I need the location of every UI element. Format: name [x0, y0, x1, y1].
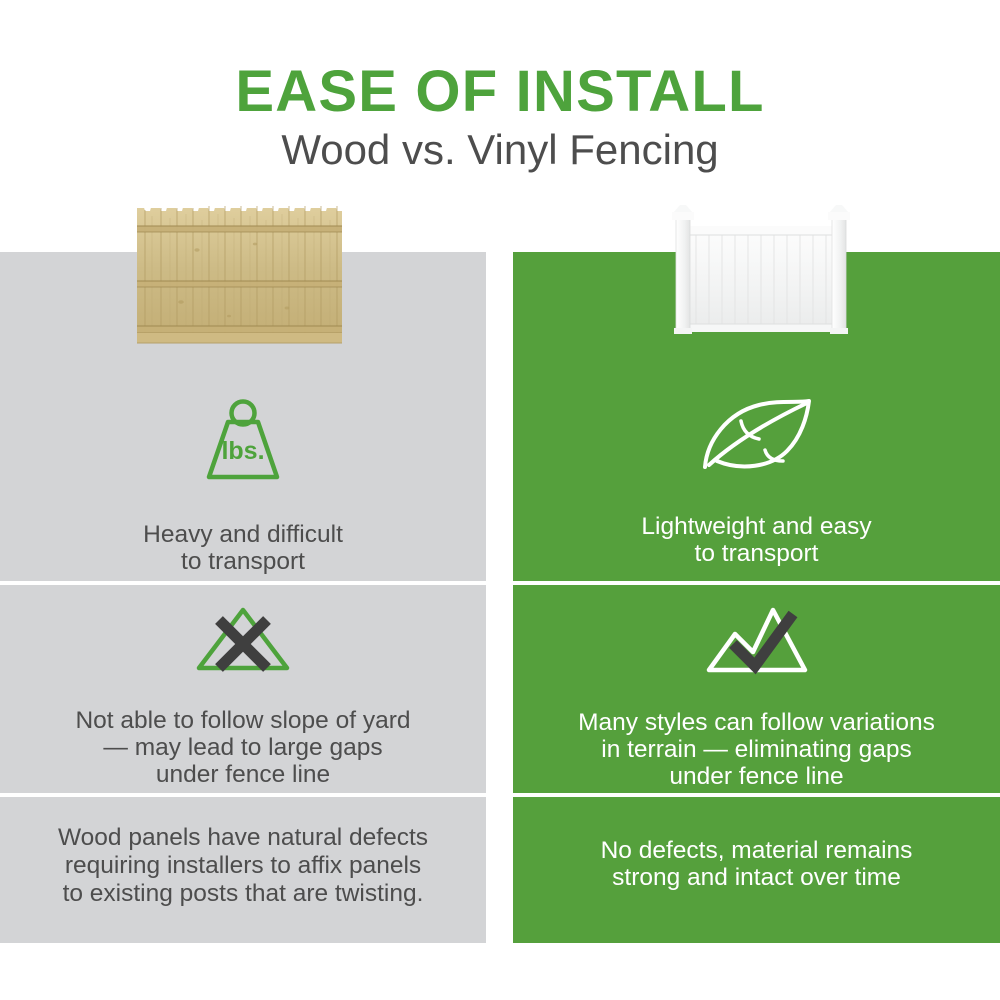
column-vinyl: Lightweight and easy to transport Many s…: [513, 252, 1000, 943]
vinyl-row-lightweight-text: Lightweight and easy to transport: [513, 513, 1000, 567]
wood-fence-panel-image: [137, 198, 342, 346]
wood-row-defects-text: Wood panels have natural defects requiri…: [0, 824, 486, 908]
vinyl-row-nodefects-text: No defects, material remains strong and …: [513, 837, 1000, 891]
vinyl-row-terrain: Many styles can follow variations in ter…: [513, 604, 1000, 790]
vinyl-row-lightweight: Lightweight and easy to transport: [513, 397, 1000, 567]
vinyl-fence-panel-image: [666, 200, 856, 345]
divider: [0, 793, 486, 797]
divider: [0, 581, 486, 585]
vinyl-row-nodefects: No defects, material remains strong and …: [513, 837, 1000, 891]
triangle-with-x-icon: [0, 604, 486, 679]
wood-row-slope: Not able to follow slope of yard — may l…: [0, 604, 486, 788]
header: EASE OF INSTALL Wood vs. Vinyl Fencing: [0, 0, 1000, 200]
column-wood: lbs. Heavy and difficult to transport No…: [0, 252, 486, 943]
svg-text:lbs.: lbs.: [221, 437, 264, 465]
page-title: EASE OF INSTALL: [0, 63, 1000, 121]
wood-row-weight-text: Heavy and difficult to transport: [0, 521, 486, 575]
wood-row-slope-text: Not able to follow slope of yard — may l…: [0, 707, 486, 788]
leaf-icon: [513, 397, 1000, 480]
page-subtitle: Wood vs. Vinyl Fencing: [0, 128, 1000, 172]
wood-row-weight: lbs. Heavy and difficult to transport: [0, 397, 486, 575]
divider: [513, 581, 1000, 585]
weight-lbs-icon: lbs.: [0, 397, 486, 488]
vinyl-row-terrain-text: Many styles can follow variations in ter…: [513, 709, 1000, 790]
infographic-root: EASE OF INSTALL Wood vs. Vinyl Fencing l…: [0, 0, 1000, 1000]
terrain-with-check-icon: [513, 604, 1000, 681]
divider: [513, 793, 1000, 797]
wood-row-defects: Wood panels have natural defects requiri…: [0, 824, 486, 908]
